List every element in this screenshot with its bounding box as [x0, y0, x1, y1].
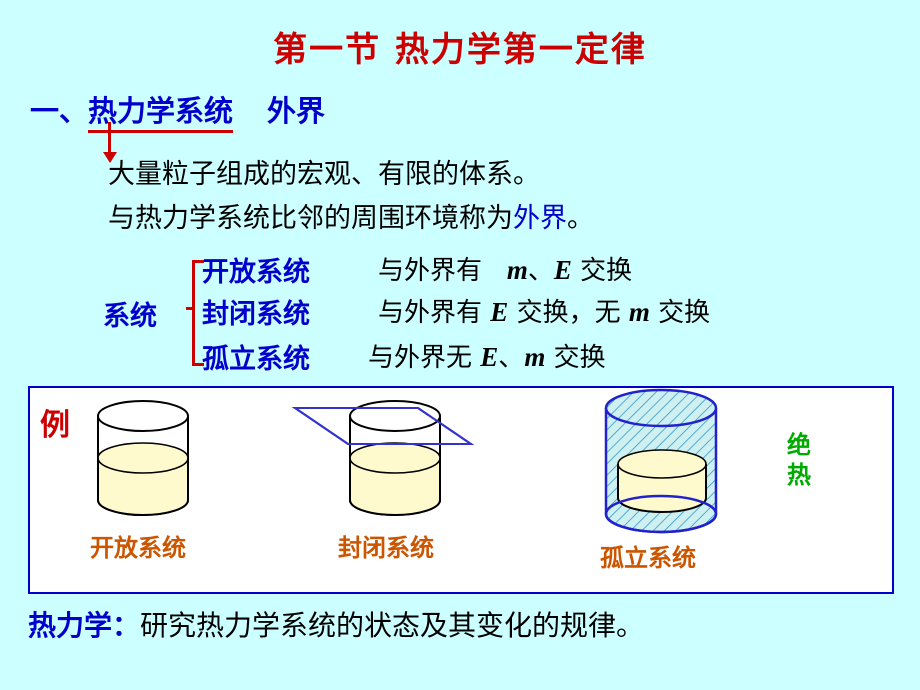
red-brace: [186, 252, 202, 374]
classification-item-closed: 封闭系统: [202, 292, 310, 331]
classification-item-open: 开放系统: [202, 250, 310, 289]
desc-open-sep: 、: [528, 256, 554, 286]
desc-closed-text-3: 交换: [658, 298, 710, 328]
figure-caption-isolated: 孤立系统: [600, 538, 696, 573]
insulation-annotation: 绝热: [784, 430, 814, 490]
desc-iso-text-1: 与外界无: [368, 343, 472, 373]
classification-item-isolated: 孤立系统: [202, 337, 310, 376]
definition-line-2: 与热力学系统比邻的周围环境称为外界。: [108, 196, 594, 235]
desc-iso-text-2: 交换: [554, 343, 606, 373]
desc-iso-sep: 、: [498, 343, 524, 373]
classification-desc-isolated: 与外界无 E、m 交换: [368, 337, 606, 374]
definition-line-2-post: 。: [567, 203, 594, 234]
definition-line-2-pre: 与热力学系统比邻的周围环境称为: [108, 203, 513, 234]
open-system-figure: [98, 401, 188, 515]
classification-label: 系统: [103, 294, 157, 333]
footer-body: 研究热力学系统的状态及其变化的规律。: [140, 609, 644, 642]
footer-text: 热力学：研究热力学系统的状态及其变化的规律。: [28, 604, 644, 644]
desc-open-symbol-m: m: [507, 255, 528, 285]
definition-line-1: 大量粒子组成的宏观、有限的体系。: [108, 152, 540, 191]
classification-desc-closed: 与外界有 E 交换，无 m 交换: [378, 292, 710, 329]
section-number: 一、: [30, 94, 88, 128]
page-title: 第一节 热力学第一定律: [0, 22, 920, 71]
footer-separator: ：: [112, 609, 140, 642]
desc-closed-text-1: 与外界有: [378, 298, 482, 328]
closed-system-figure: [295, 401, 471, 515]
desc-closed-symbol-e: E: [490, 297, 508, 327]
isolated-system-figure: [606, 390, 776, 532]
slide-root: 第一节 热力学第一定律 一、热力学系统外界 大量粒子组成的宏观、有限的体系。 与…: [0, 0, 920, 690]
classification-desc-open: 与外界有 m、E 交换: [378, 250, 632, 287]
footer-term: 热力学: [28, 609, 112, 642]
desc-iso-symbol-m: m: [524, 342, 545, 372]
desc-open-text-2: 交换: [580, 256, 632, 286]
desc-closed-text-2: 交换，无: [517, 298, 621, 328]
figure-caption-closed: 封闭系统: [338, 528, 434, 563]
desc-iso-symbol-e: E: [480, 342, 498, 372]
desc-open-text-1: 与外界有: [378, 256, 482, 286]
definition-line-2-highlight: 外界: [513, 203, 567, 234]
section-heading: 一、热力学系统外界: [30, 88, 325, 130]
figure-caption-open: 开放系统: [90, 528, 186, 563]
desc-closed-symbol-m: m: [629, 297, 650, 327]
desc-open-symbol-e: E: [554, 255, 572, 285]
arrow-line: [108, 122, 111, 156]
section-term-second: 外界: [267, 94, 325, 128]
